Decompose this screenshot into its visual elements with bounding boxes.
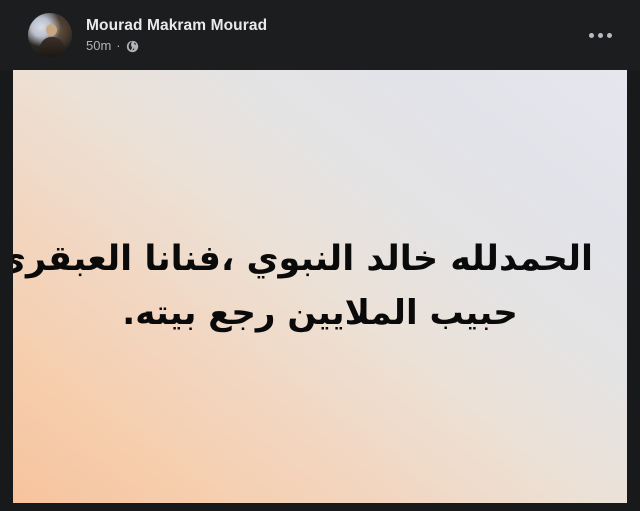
meta-separator: ·: [116, 38, 120, 54]
more-options-icon[interactable]: [585, 27, 616, 44]
image-text-line-1: الحمدلله خالد النبوي ،فنانا العبقري و: [47, 232, 593, 286]
globe-icon[interactable]: [126, 40, 139, 53]
menu-dot-3: [607, 33, 612, 38]
post-image-text: الحمدلله خالد النبوي ،فنانا العبقري و حب…: [13, 232, 627, 340]
avatar[interactable]: [28, 13, 72, 57]
avatar-body-shape: [39, 37, 65, 57]
menu-dot-1: [589, 33, 594, 38]
image-text-line-2: حبيب الملايين رجع بيته.: [47, 286, 593, 340]
post-header: Mourad Makram Mourad 50m ·: [0, 0, 640, 70]
menu-dot-2: [598, 33, 603, 38]
post-meta: 50m ·: [86, 38, 585, 54]
post-image[interactable]: الحمدلله خالد النبوي ،فنانا العبقري و حب…: [13, 70, 627, 503]
avatar-head-shape: [46, 24, 57, 36]
post-header-text: Mourad Makram Mourad 50m ·: [86, 16, 585, 54]
facebook-post: Mourad Makram Mourad 50m ·: [0, 0, 640, 511]
post-timestamp[interactable]: 50m: [86, 38, 111, 54]
poster-name[interactable]: Mourad Makram Mourad: [86, 16, 585, 35]
